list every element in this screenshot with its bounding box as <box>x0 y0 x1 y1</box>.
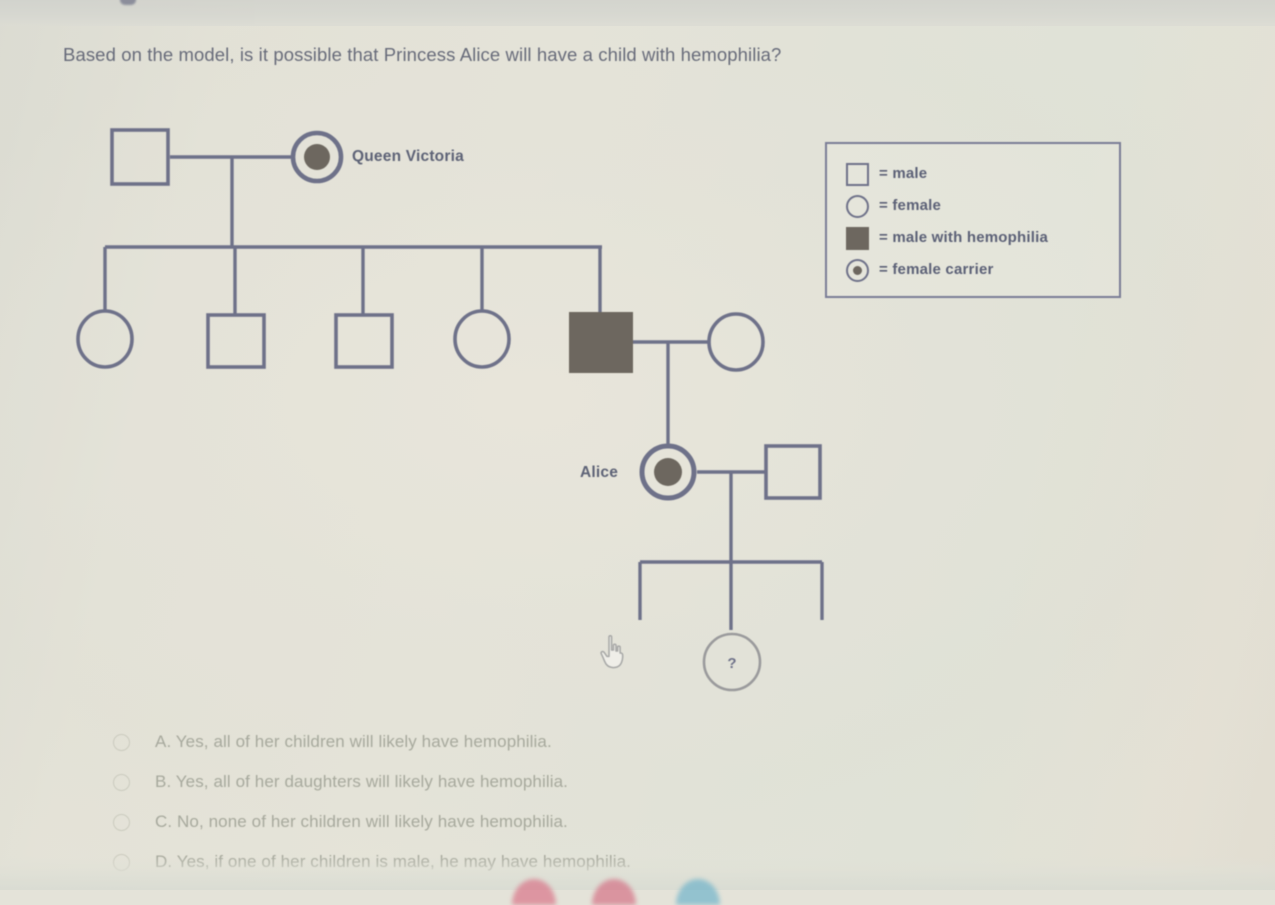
option-label-a[interactable]: A. Yes, all of her children will likely … <box>155 732 552 752</box>
legend-box: = male = female = male with hemophilia =… <box>825 142 1121 298</box>
radio-option-c[interactable] <box>113 814 130 831</box>
legend-label-male: = male <box>879 165 927 182</box>
option-label-b[interactable]: B. Yes, all of her daughters will likely… <box>155 772 568 792</box>
open-square-icon <box>843 160 869 186</box>
option-row-c[interactable]: C. No, none of her children will likely … <box>113 802 873 842</box>
pointing-hand-cursor <box>596 634 630 672</box>
option-label-c[interactable]: C. No, none of her children will likely … <box>155 812 568 832</box>
bottom-shape <box>512 879 556 905</box>
legend-row-female: = female <box>843 192 941 218</box>
bottom-shape <box>676 879 720 905</box>
option-row-a[interactable]: A. Yes, all of her children will likely … <box>113 722 873 762</box>
legend-label-affected-male: = male with hemophilia <box>879 229 1048 246</box>
legend-row-male: = male <box>843 160 927 186</box>
top-edge-artifact <box>120 0 136 5</box>
legend-row-affected-male: = male with hemophilia <box>843 224 1048 250</box>
question-prompt: Based on the model, is it possible that … <box>63 44 1063 66</box>
queen-victoria-label: Queen Victoria <box>352 148 464 166</box>
radio-option-b[interactable] <box>113 774 130 791</box>
carrier-circle-icon <box>843 256 869 282</box>
filled-square-icon <box>843 224 869 250</box>
top-edge-strip <box>0 0 1275 26</box>
option-row-b[interactable]: B. Yes, all of her daughters will likely… <box>113 762 873 802</box>
legend-label-carrier-female: = female carrier <box>879 261 994 278</box>
open-circle-icon <box>843 192 869 218</box>
legend-label-female: = female <box>879 197 941 214</box>
bottom-shape <box>592 879 636 905</box>
radio-option-a[interactable] <box>113 734 130 751</box>
legend-row-carrier-female: = female carrier <box>843 256 994 282</box>
bottom-edge-shapes <box>0 864 1275 890</box>
alice-label: Alice <box>580 464 618 482</box>
